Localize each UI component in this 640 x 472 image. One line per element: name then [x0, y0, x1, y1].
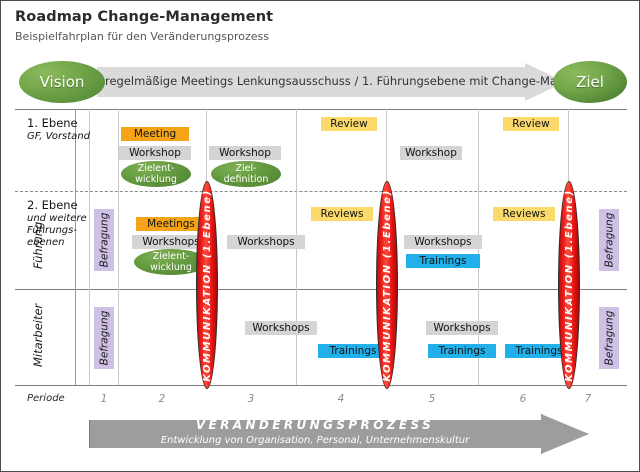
period-row-label: Periode — [27, 393, 65, 404]
chip-level1-meeting[interactable]: Meeting — [121, 127, 189, 141]
chip-level2-zielentwicklung-line1: Zielent- — [153, 251, 190, 262]
communication-column-1-label: KOMMUNIKATION (1.Ebene) — [202, 189, 213, 382]
grid-hline-top — [15, 109, 627, 110]
chip-level1-zielentwicklung-line1: Zielent- — [138, 163, 175, 174]
chip-mitarbeiter-workshops-a[interactable]: Workshops — [245, 321, 317, 335]
roadmap-diagram: Roadmap Change-Management Beispielfahrpl… — [0, 0, 640, 472]
survey-level2-start[interactable]: Befragung — [94, 209, 114, 271]
survey-level2-end[interactable]: Befragung — [599, 209, 619, 271]
process-subtitle: Entwicklung von Organisation, Personal, … — [89, 435, 541, 446]
grid-hline-bottom — [15, 385, 627, 386]
page-title: Roadmap Change-Management — [15, 9, 273, 25]
chip-level1-zieldefinition-line2: definition — [224, 174, 269, 185]
survey-mitarbeiter-end[interactable]: Befragung — [599, 307, 619, 369]
band-label-mitarbeiter: Mitarbeiter — [31, 304, 45, 367]
banner-text: regelmäßige Meetings Lenkungsausschuss /… — [105, 74, 545, 88]
communication-column-2[interactable]: KOMMUNIKATION (1.Ebene) — [376, 181, 398, 389]
chip-level2-workshops-c[interactable]: Workshops — [404, 235, 482, 249]
roadmap-grid: Führung Mitarbeiter 1. Ebene GF, Vorstan… — [15, 109, 627, 399]
period-3: 3 — [206, 393, 296, 405]
chip-level1-review-a[interactable]: Review — [321, 117, 377, 131]
chip-mitarbeiter-trainings-b[interactable]: Trainings — [428, 344, 496, 358]
period-5: 5 — [386, 393, 478, 405]
period-2: 2 — [118, 393, 206, 405]
chip-level1-workshop-b[interactable]: Workshop — [209, 146, 281, 160]
period-6: 6 — [478, 393, 568, 405]
communication-column-1[interactable]: KOMMUNIKATION (1.Ebene) — [196, 181, 218, 389]
grid-hline-level-split — [15, 191, 627, 192]
grid-hline-band-split — [15, 289, 627, 290]
chip-level2-workshops-b[interactable]: Workshops — [227, 235, 305, 249]
chip-level2-zielentwicklung-line2: wicklung — [150, 262, 192, 273]
chip-level2-reviews-a[interactable]: Reviews — [311, 207, 373, 221]
chip-level1-zieldefinition[interactable]: Ziel- definition — [211, 161, 281, 187]
period-7: 7 — [568, 393, 608, 405]
chip-level1-workshop-a[interactable]: Workshop — [119, 146, 191, 160]
chip-level2-reviews-b[interactable]: Reviews — [493, 207, 555, 221]
page-subtitle: Beispielfahrplan für den Veränderungspro… — [15, 30, 269, 43]
ziel-ellipse: Ziel — [553, 61, 627, 103]
communication-column-2-label: KOMMUNIKATION (1.Ebene) — [382, 189, 393, 382]
survey-mitarbeiter-start-label: Befragung — [98, 311, 110, 366]
period-4: 4 — [296, 393, 386, 405]
level2-title: 2. Ebene — [27, 199, 147, 212]
chip-level1-zielentwicklung[interactable]: Zielent- wicklung — [121, 161, 191, 187]
communication-column-3[interactable]: KOMMUNIKATION (1.Ebene) — [558, 181, 580, 389]
level2-subtitle-line3: ebenen — [27, 237, 147, 250]
chip-level1-zieldefinition-line1: Ziel- — [235, 163, 256, 174]
chip-level1-zielentwicklung-line2: wicklung — [135, 174, 177, 185]
chip-level1-workshop-c[interactable]: Workshop — [400, 146, 462, 160]
chip-mitarbeiter-workshops-b[interactable]: Workshops — [426, 321, 498, 335]
chip-level2-trainings[interactable]: Trainings — [406, 254, 480, 268]
level2-subtitle-line1: und weitere — [27, 213, 147, 226]
communication-column-3-label: KOMMUNIKATION (1.Ebene) — [564, 189, 575, 382]
survey-level2-end-label: Befragung — [603, 213, 615, 268]
period-1: 1 — [89, 393, 119, 405]
chip-level2-meetings[interactable]: Meetings — [136, 217, 206, 231]
survey-mitarbeiter-start[interactable]: Befragung — [94, 307, 114, 369]
vision-ellipse: Vision — [19, 61, 105, 103]
level2-subtitle-line2: Führungs- — [27, 225, 147, 238]
process-title: VERÄNDERUNGSPROZESS — [89, 418, 541, 432]
survey-mitarbeiter-end-label: Befragung — [603, 311, 615, 366]
survey-level2-start-label: Befragung — [98, 213, 110, 268]
chip-level1-review-b[interactable]: Review — [503, 117, 559, 131]
